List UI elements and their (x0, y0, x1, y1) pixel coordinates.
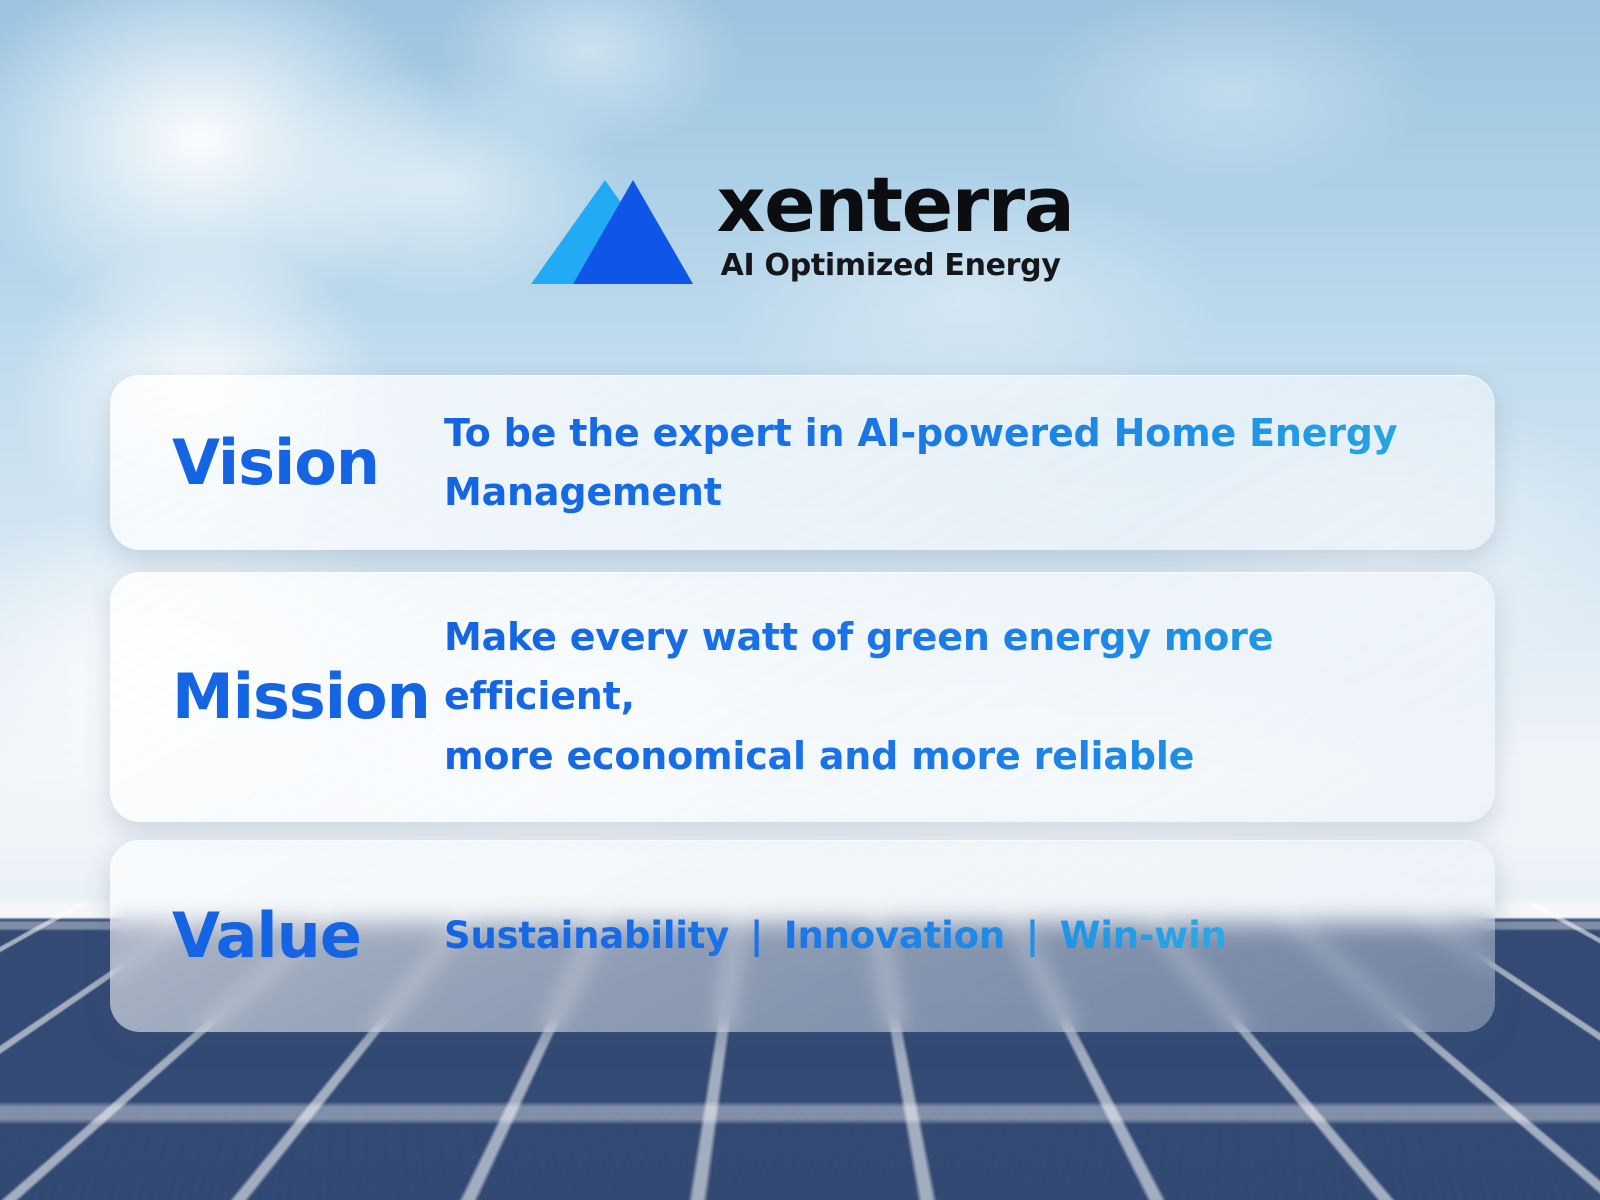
value-card[interactable]: Value Sustainability | Innovation | Win-… (110, 840, 1495, 1032)
value-item-win-win: Win-win (1060, 914, 1227, 957)
vision-card[interactable]: Vision To be the expert in AI-powered Ho… (110, 375, 1495, 550)
mission-card[interactable]: Mission Make every watt of green energy … (110, 572, 1495, 822)
brand-tagline: AI Optimized Energy (721, 248, 1061, 283)
value-separator: | (742, 914, 771, 957)
mission-card-label: Mission (172, 666, 444, 728)
brand-wordmark: xenterra (717, 170, 1074, 240)
panel-shadow-overlay (0, 1030, 1600, 1200)
vision-card-label: Vision (172, 432, 444, 494)
value-card-label: Value (172, 905, 444, 967)
value-card-body: Sustainability | Innovation | Win-win (444, 907, 1227, 964)
value-item-innovation: Innovation (784, 914, 1005, 957)
brand-logo: xenterra AI Optimized Energy (0, 170, 1600, 288)
mission-card-body: Make every watt of green energy more eff… (444, 608, 1455, 786)
value-separator: | (1018, 914, 1047, 957)
vision-card-body: To be the expert in AI-powered Home Ener… (444, 404, 1455, 522)
mission-card-body-line-2: more economical and more reliable (444, 727, 1455, 786)
value-item-sustainability: Sustainability (444, 914, 729, 957)
mountain-m-logo-icon (527, 176, 695, 288)
mission-card-body-line-1: Make every watt of green energy more eff… (444, 608, 1455, 727)
slide-canvas: xenterra AI Optimized Energy Vision To b… (0, 0, 1600, 1200)
